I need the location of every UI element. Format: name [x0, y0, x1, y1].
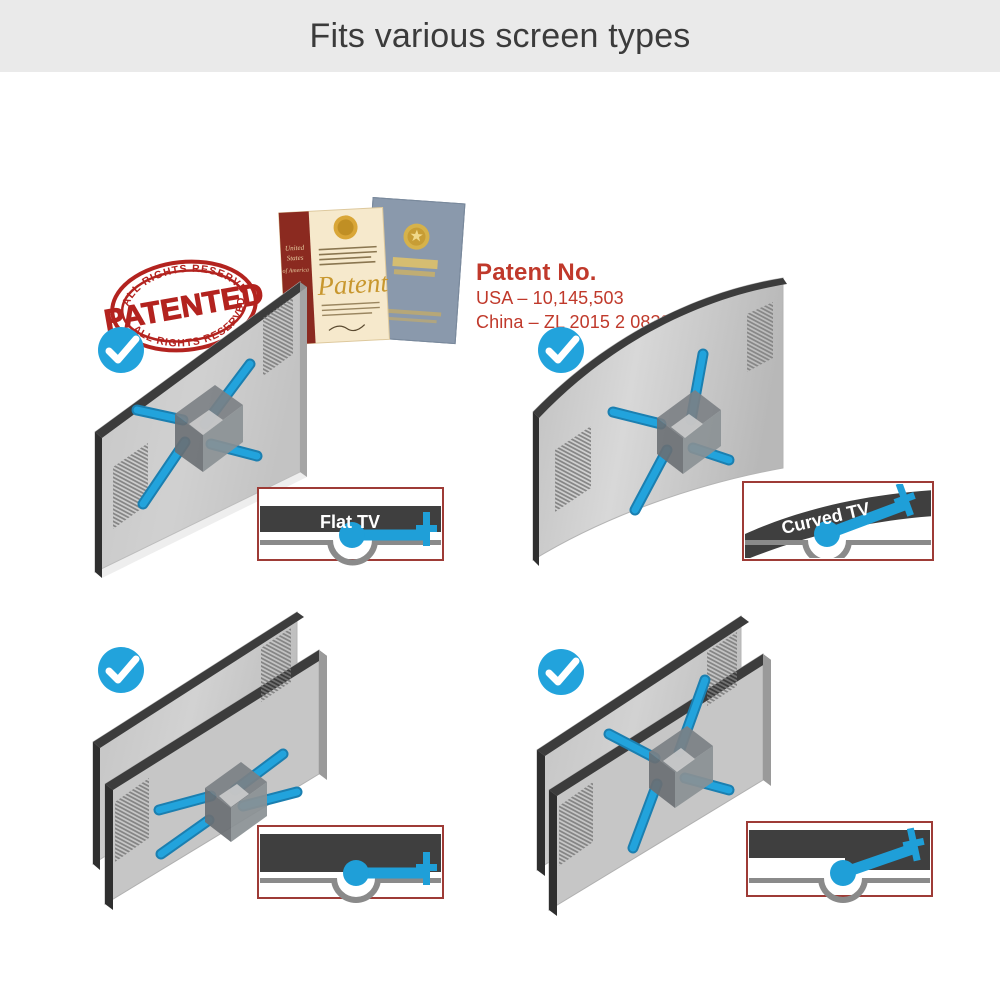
page-title: Fits various screen types — [0, 0, 1000, 72]
inset-flat-tv: Flat TV — [258, 488, 443, 563]
flat-tv-case: Flat TV — [75, 272, 515, 592]
deep-back-tv-case — [515, 602, 955, 922]
check-icon — [538, 327, 584, 373]
svg-text:States: States — [287, 254, 304, 263]
check-icon — [538, 649, 584, 695]
inset-deep-back — [747, 822, 932, 900]
infographic-page: Fits various screen types ALL RIGHTS RES… — [0, 0, 1000, 1000]
check-icon — [98, 327, 144, 373]
check-icon — [98, 647, 144, 693]
thick-back-tv-case — [75, 602, 515, 922]
svg-text:United: United — [285, 244, 305, 253]
screen-type-grid: Flat TV — [0, 272, 1000, 952]
patent-section: ALL RIGHTS RESERVED ALL RIGHTS RESERVED … — [0, 92, 1000, 272]
inset-label-flat: Flat TV — [320, 512, 380, 532]
inset-curved-tv: Curved TV — [743, 480, 935, 562]
curved-tv-case: Curved TV — [515, 272, 955, 592]
inset-thick-back — [258, 826, 443, 900]
header-band: Fits various screen types — [0, 0, 1000, 72]
